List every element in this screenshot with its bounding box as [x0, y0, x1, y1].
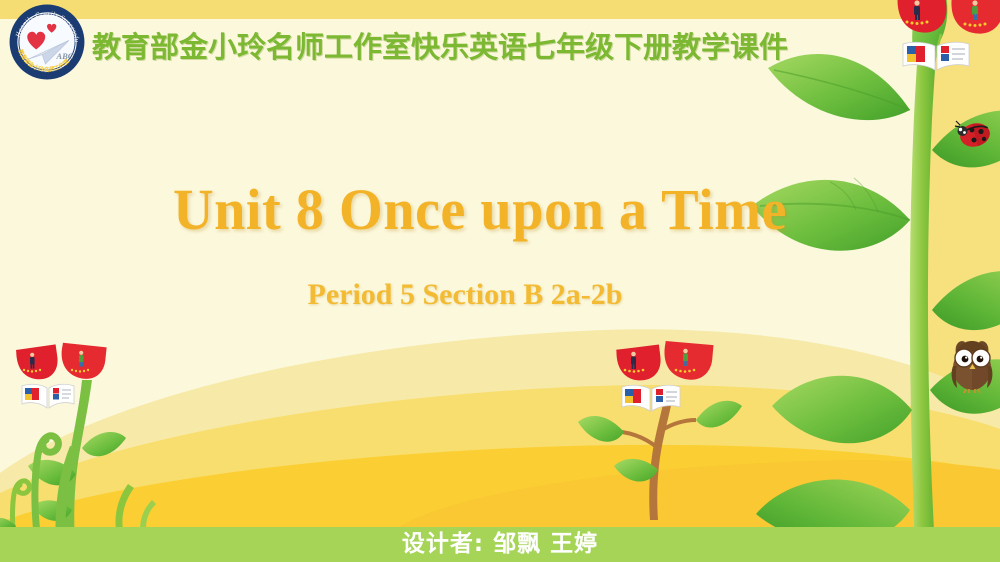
header-title: 教育部金小玲名师工作室快乐英语七年级下册教学课件 [92, 24, 788, 66]
book-flower-top-right [893, 0, 1000, 79]
footer-designer-credit: 设计者: 邹飘 王婷 [0, 524, 1000, 558]
presentation-slide: Happily Crazily Successfully 教育部金小玲名师工作室… [0, 0, 1000, 562]
big-plant-right [760, 0, 1000, 550]
book-flower-center [614, 343, 724, 423]
slide-subtitle: Period 5 Section B 2a-2b [0, 278, 930, 312]
book-flower-left [14, 345, 114, 420]
grass-blades-bottom [100, 470, 160, 530]
slide-main-title: Unit 8 Once upon a Time [14, 176, 945, 243]
ladybug [953, 118, 997, 150]
logo-motto: ABC [55, 51, 73, 61]
teacher-studio-logo: Happily Crazily Successfully 教育部金小玲名师工作室… [8, 3, 86, 81]
owl [944, 334, 1000, 394]
